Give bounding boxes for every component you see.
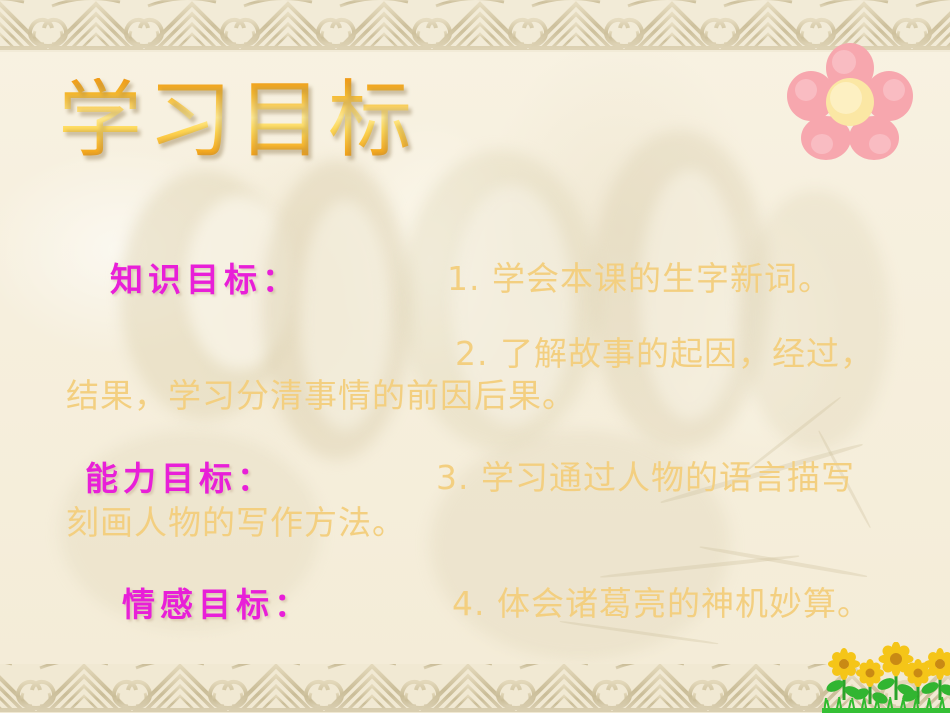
pink-flower-icon [786, 40, 914, 162]
goal-item-1: 1. 学会本课的生字新词。 [447, 253, 832, 305]
goal-label-knowledge: 知识目标： [110, 253, 300, 301]
goal-item-4: 4. 体会诸葛亮的神机妙算。 [452, 578, 871, 630]
slide-canvas: 学习目标 学习目标 知识目标： 1. 学会本课的生字新词。 2. 了 [0, 0, 950, 713]
goal-item-3-line-2: 刻画人物的写作方法。 [66, 497, 406, 549]
page-title: 学习目标 [58, 78, 418, 164]
goal-label-ability: 能力目标： [85, 452, 275, 500]
goal-item-2-line-2: 结果，学习分清事情的前因后果。 [66, 370, 576, 422]
bottom-border-decoration [0, 664, 950, 713]
goal-item-3-line-1: 3. 学习通过人物的语言描写 [436, 452, 855, 504]
sunflowers-icon [822, 642, 950, 713]
goal-label-emotion: 情感目标： [122, 578, 312, 626]
